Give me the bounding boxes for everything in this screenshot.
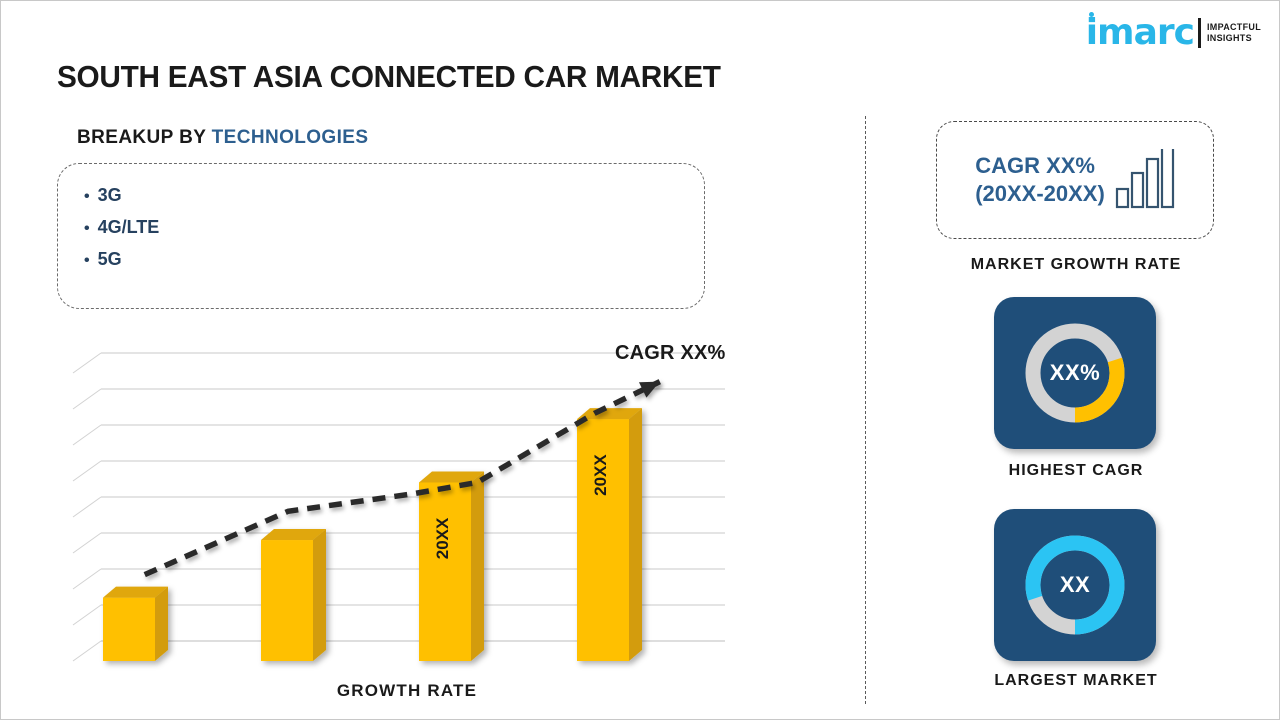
- logo-tagline-line1: IMPACTFUL: [1207, 22, 1261, 33]
- growth-rate-bar-chart: 20XX20XX: [57, 331, 757, 681]
- list-item: 3G: [84, 180, 704, 212]
- chart-bar-label: 20XX: [433, 517, 452, 559]
- cagr-box-line1: CAGR XX%: [975, 152, 1105, 180]
- icon-bar: [1117, 189, 1128, 207]
- slide-canvas: imarc IMPACTFUL INSIGHTS SOUTH EAST ASIA…: [0, 0, 1280, 720]
- cagr-box-text: CAGR XX% (20XX-20XX): [975, 152, 1105, 208]
- icon-bar: [1132, 173, 1143, 207]
- market-growth-rate-caption: MARKET GROWTH RATE: [876, 256, 1276, 274]
- logo-dot-icon: [1089, 12, 1094, 17]
- highest-cagr-card: XX%: [994, 297, 1156, 449]
- breakup-heading: BREAKUP BY TECHNOLOGIES: [77, 127, 368, 149]
- market-growth-rate-box: CAGR XX% (20XX-20XX): [936, 121, 1214, 239]
- logo-divider: [1198, 18, 1201, 48]
- imarc-logo: imarc IMPACTFUL INSIGHTS: [1086, 13, 1261, 53]
- highest-cagr-caption: HIGHEST CAGR: [876, 462, 1276, 480]
- chart-bar: [419, 471, 484, 661]
- chart-bars: 20XX20XX: [103, 408, 642, 661]
- chart-floor: [73, 353, 101, 661]
- breakup-heading-prefix: BREAKUP BY: [77, 127, 212, 148]
- largest-market-caption: LARGEST MARKET: [876, 672, 1276, 690]
- panel-divider: [865, 116, 866, 704]
- logo-tagline: IMPACTFUL INSIGHTS: [1207, 22, 1261, 44]
- logo-wordmark: imarc: [1086, 16, 1194, 50]
- chart-bar-label: 20XX: [591, 454, 610, 496]
- logo-tagline-line2: INSIGHTS: [1207, 33, 1261, 44]
- largest-market-value: XX: [1060, 572, 1090, 598]
- logo-wordmark-text: imarc: [1086, 12, 1194, 53]
- chart-cagr-label: CAGR XX%: [615, 342, 726, 365]
- highest-cagr-value: XX%: [1050, 360, 1100, 386]
- chart-bar: [577, 408, 642, 661]
- icon-bar: [1162, 149, 1173, 207]
- list-item: 4G/LTE: [84, 212, 704, 244]
- breakup-heading-highlight: TECHNOLOGIES: [212, 127, 369, 148]
- technologies-list: 3G 4G/LTE 5G: [58, 164, 704, 276]
- chart-x-axis-label: GROWTH RATE: [57, 681, 757, 701]
- cagr-box-line2: (20XX-20XX): [975, 180, 1105, 208]
- ascending-bars-icon: [1113, 149, 1175, 211]
- chart-svg: 20XX20XX: [57, 331, 757, 681]
- chart-bar: [103, 587, 168, 661]
- chart-bar: [261, 529, 326, 661]
- largest-market-card: XX: [994, 509, 1156, 661]
- list-item: 5G: [84, 244, 704, 276]
- page-title: SOUTH EAST ASIA CONNECTED CAR MARKET: [57, 59, 721, 95]
- icon-bar: [1147, 159, 1158, 207]
- technologies-box: 3G 4G/LTE 5G: [57, 163, 705, 309]
